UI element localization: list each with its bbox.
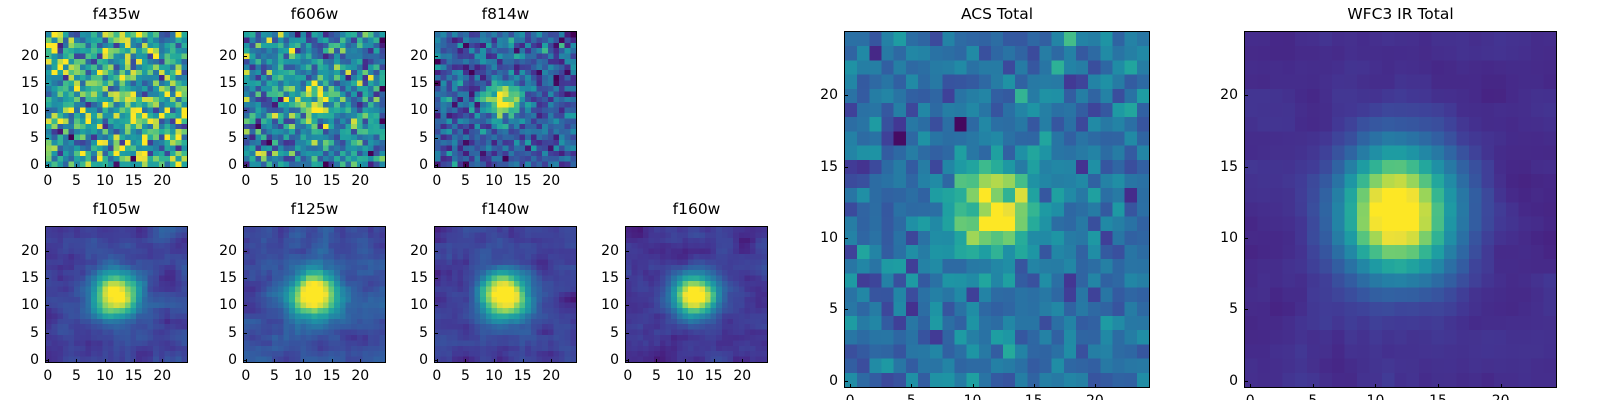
ytick-mark-f105w-0 [45,360,49,361]
panel-title-f125w: f125w [243,202,386,218]
ytick-mark-f160w-5 [625,333,629,334]
ytick-label-f140w-10: 10 [390,298,428,312]
ytick-mark-f606w-20 [243,56,247,57]
xtick-label-f105w-5: 5 [72,369,81,383]
xtick-mark-f125w-10 [303,359,304,363]
ytick-mark-f606w-0 [243,165,247,166]
xtick-label-acs-total-10: 10 [964,394,982,400]
xtick-label-f125w-10: 10 [294,369,312,383]
ytick-label-f435w-0: 0 [1,158,39,172]
xtick-label-f160w-20: 20 [733,369,751,383]
panel-title-f435w: f435w [45,7,188,23]
xtick-label-wfc3-ir-total-20: 20 [1492,394,1510,400]
xtick-label-f435w-10: 10 [96,174,114,188]
axes-f160w [625,226,768,363]
xtick-label-f160w-15: 15 [705,369,723,383]
xtick-mark-f160w-15 [714,359,715,363]
ytick-mark-f814w-0 [434,165,438,166]
ytick-label-wfc3-ir-total-0: 0 [1200,374,1238,388]
xtick-mark-f814w-10 [494,164,495,168]
panel-f435w: f435w0510152005101520 [1,5,188,192]
xtick-mark-f105w-15 [134,359,135,363]
heatmap-image-f435w [46,32,187,167]
xtick-label-f105w-20: 20 [153,369,171,383]
panel-title-f814w: f814w [434,7,577,23]
xtick-label-f105w-15: 15 [125,369,143,383]
ytick-label-f606w-10: 10 [199,103,237,117]
xtick-label-f814w-20: 20 [542,174,560,188]
ytick-label-f160w-0: 0 [581,353,619,367]
xtick-mark-acs-total-20 [1095,384,1096,388]
ytick-label-f435w-5: 5 [1,131,39,145]
ytick-mark-f125w-15 [243,278,247,279]
ytick-mark-f814w-20 [434,56,438,57]
xtick-mark-f160w-20 [742,359,743,363]
ytick-mark-f435w-0 [45,165,49,166]
xtick-mark-f606w-5 [274,164,275,168]
ytick-label-f105w-10: 10 [1,298,39,312]
xtick-label-acs-total-15: 15 [1025,394,1043,400]
ytick-label-f140w-15: 15 [390,271,428,285]
ytick-label-wfc3-ir-total-10: 10 [1200,231,1238,245]
xtick-label-f814w-10: 10 [485,174,503,188]
xtick-label-f606w-15: 15 [323,174,341,188]
axes-f435w [45,31,188,168]
panel-title-f140w: f140w [434,202,577,218]
xtick-mark-f140w-10 [494,359,495,363]
ytick-mark-f814w-15 [434,83,438,84]
ytick-label-f125w-15: 15 [199,271,237,285]
axes-acs-total [844,31,1150,388]
ytick-label-f435w-15: 15 [1,76,39,90]
ytick-label-f140w-5: 5 [390,326,428,340]
ytick-label-f105w-0: 0 [1,353,39,367]
panel-title-f160w: f160w [625,202,768,218]
ytick-mark-acs-total-20 [844,95,848,96]
xtick-label-acs-total-5: 5 [907,394,916,400]
ytick-mark-f105w-20 [45,251,49,252]
ytick-label-f814w-15: 15 [390,76,428,90]
heatmap-image-f160w [626,227,767,362]
xtick-mark-f105w-20 [162,359,163,363]
xtick-mark-f606w-20 [360,164,361,168]
heatmap-image-wfc3-ir-total [1245,32,1556,387]
xtick-label-f125w-20: 20 [351,369,369,383]
panel-wfc3-ir-total: WFC3 IR Total0510152005101520 [1200,5,1557,400]
xtick-label-f814w-5: 5 [461,174,470,188]
xtick-label-f125w-0: 0 [241,369,250,383]
xtick-mark-f435w-5 [76,164,77,168]
ytick-mark-f435w-10 [45,110,49,111]
panel-f140w: f140w0510152005101520 [390,200,577,387]
ytick-mark-f105w-5 [45,333,49,334]
ytick-label-f814w-20: 20 [390,49,428,63]
xtick-label-acs-total-0: 0 [846,394,855,400]
ytick-label-wfc3-ir-total-15: 15 [1200,160,1238,174]
ytick-mark-wfc3-ir-total-0 [1244,381,1248,382]
ytick-label-f140w-0: 0 [390,353,428,367]
ytick-mark-f160w-20 [625,251,629,252]
xtick-label-f140w-15: 15 [514,369,532,383]
panel-f125w: f125w0510152005101520 [199,200,386,387]
xtick-label-wfc3-ir-total-0: 0 [1246,394,1255,400]
xtick-label-wfc3-ir-total-10: 10 [1367,394,1385,400]
ytick-label-acs-total-10: 10 [800,231,838,245]
xtick-label-f125w-5: 5 [270,369,279,383]
xtick-mark-wfc3-ir-total-0 [1250,384,1251,388]
ytick-mark-f140w-15 [434,278,438,279]
heatmap-image-f105w [46,227,187,362]
ytick-mark-f105w-15 [45,278,49,279]
panel-title-wfc3-ir-total: WFC3 IR Total [1244,7,1557,23]
xtick-label-f606w-20: 20 [351,174,369,188]
xtick-mark-wfc3-ir-total-10 [1375,384,1376,388]
xtick-mark-acs-total-0 [850,384,851,388]
panel-f160w: f160w0510152005101520 [581,200,768,387]
xtick-mark-f814w-15 [523,164,524,168]
heatmap-image-f125w [244,227,385,362]
xtick-mark-f435w-20 [162,164,163,168]
xtick-mark-f160w-10 [685,359,686,363]
axes-f105w [45,226,188,363]
ytick-mark-acs-total-15 [844,167,848,168]
xtick-label-f105w-10: 10 [96,369,114,383]
ytick-label-f606w-20: 20 [199,49,237,63]
ytick-label-f125w-20: 20 [199,244,237,258]
xtick-mark-f435w-10 [105,164,106,168]
xtick-label-wfc3-ir-total-5: 5 [1308,394,1317,400]
ytick-mark-f606w-5 [243,138,247,139]
ytick-label-wfc3-ir-total-5: 5 [1200,302,1238,316]
xtick-label-f435w-5: 5 [72,174,81,188]
ytick-label-acs-total-20: 20 [800,88,838,102]
ytick-label-f140w-20: 20 [390,244,428,258]
xtick-label-f105w-0: 0 [43,369,52,383]
ytick-label-f160w-5: 5 [581,326,619,340]
figure-canvas: f435w0510152005101520f606w05101520051015… [0,0,1600,400]
xtick-mark-f140w-15 [523,359,524,363]
ytick-label-acs-total-15: 15 [800,160,838,174]
xtick-mark-f125w-15 [332,359,333,363]
ytick-mark-f814w-10 [434,110,438,111]
ytick-label-f125w-5: 5 [199,326,237,340]
ytick-label-f160w-15: 15 [581,271,619,285]
ytick-mark-f140w-20 [434,251,438,252]
xtick-mark-wfc3-ir-total-5 [1313,384,1314,388]
ytick-label-f606w-15: 15 [199,76,237,90]
ytick-label-f105w-5: 5 [1,326,39,340]
ytick-mark-wfc3-ir-total-10 [1244,238,1248,239]
ytick-mark-f160w-10 [625,305,629,306]
axes-f125w [243,226,386,363]
xtick-label-f160w-10: 10 [676,369,694,383]
xtick-mark-f606w-10 [303,164,304,168]
panel-f606w: f606w0510152005101520 [199,5,386,192]
axes-wfc3-ir-total [1244,31,1557,388]
ytick-mark-wfc3-ir-total-5 [1244,309,1248,310]
xtick-label-f435w-15: 15 [125,174,143,188]
xtick-label-f160w-5: 5 [652,369,661,383]
ytick-label-acs-total-5: 5 [800,302,838,316]
xtick-mark-f814w-20 [551,164,552,168]
heatmap-image-acs-total [845,32,1149,387]
panel-f105w: f105w0510152005101520 [1,200,188,387]
xtick-label-f814w-15: 15 [514,174,532,188]
ytick-mark-f160w-0 [625,360,629,361]
ytick-mark-f125w-20 [243,251,247,252]
xtick-label-f606w-0: 0 [241,174,250,188]
xtick-mark-acs-total-15 [1034,384,1035,388]
xtick-mark-f125w-20 [360,359,361,363]
panel-title-f606w: f606w [243,7,386,23]
ytick-mark-f140w-0 [434,360,438,361]
ytick-label-f125w-0: 0 [199,353,237,367]
ytick-mark-acs-total-0 [844,381,848,382]
xtick-label-f140w-0: 0 [432,369,441,383]
ytick-mark-wfc3-ir-total-15 [1244,167,1248,168]
xtick-mark-acs-total-5 [911,384,912,388]
ytick-mark-acs-total-5 [844,309,848,310]
xtick-label-f814w-0: 0 [432,174,441,188]
ytick-mark-f125w-10 [243,305,247,306]
ytick-label-f105w-15: 15 [1,271,39,285]
ytick-mark-f435w-20 [45,56,49,57]
ytick-mark-f140w-5 [434,333,438,334]
xtick-label-f160w-0: 0 [623,369,632,383]
xtick-label-wfc3-ir-total-15: 15 [1429,394,1447,400]
axes-f606w [243,31,386,168]
xtick-mark-wfc3-ir-total-15 [1438,384,1439,388]
ytick-label-f160w-20: 20 [581,244,619,258]
ytick-mark-f814w-5 [434,138,438,139]
xtick-label-f140w-20: 20 [542,369,560,383]
xtick-label-f140w-10: 10 [485,369,503,383]
xtick-mark-f140w-20 [551,359,552,363]
xtick-label-f435w-20: 20 [153,174,171,188]
panel-f814w: f814w0510152005101520 [390,5,577,192]
ytick-mark-f140w-10 [434,305,438,306]
ytick-label-f814w-0: 0 [390,158,428,172]
panel-title-acs-total: ACS Total [844,7,1150,23]
xtick-mark-f105w-10 [105,359,106,363]
heatmap-image-f606w [244,32,385,167]
ytick-mark-f435w-15 [45,83,49,84]
ytick-mark-f125w-0 [243,360,247,361]
ytick-mark-acs-total-10 [844,238,848,239]
xtick-mark-f435w-15 [134,164,135,168]
panel-acs-total: ACS Total0510152005101520 [800,5,1150,400]
ytick-mark-wfc3-ir-total-20 [1244,95,1248,96]
ytick-mark-f606w-15 [243,83,247,84]
xtick-mark-acs-total-10 [973,384,974,388]
ytick-mark-f435w-5 [45,138,49,139]
ytick-mark-f606w-10 [243,110,247,111]
xtick-label-acs-total-20: 20 [1086,394,1104,400]
xtick-label-f125w-15: 15 [323,369,341,383]
ytick-mark-f160w-15 [625,278,629,279]
xtick-mark-f160w-5 [656,359,657,363]
ytick-label-f125w-10: 10 [199,298,237,312]
xtick-mark-f125w-5 [274,359,275,363]
ytick-label-f814w-5: 5 [390,131,428,145]
ytick-label-f606w-0: 0 [199,158,237,172]
heatmap-image-f814w [435,32,576,167]
ytick-label-wfc3-ir-total-20: 20 [1200,88,1238,102]
xtick-label-f606w-10: 10 [294,174,312,188]
axes-f140w [434,226,577,363]
ytick-label-f435w-20: 20 [1,49,39,63]
ytick-mark-f105w-10 [45,305,49,306]
ytick-mark-f125w-5 [243,333,247,334]
ytick-label-acs-total-0: 0 [800,374,838,388]
xtick-mark-f105w-5 [76,359,77,363]
ytick-label-f814w-10: 10 [390,103,428,117]
xtick-mark-f140w-5 [465,359,466,363]
ytick-label-f160w-10: 10 [581,298,619,312]
axes-f814w [434,31,577,168]
xtick-label-f435w-0: 0 [43,174,52,188]
heatmap-image-f140w [435,227,576,362]
ytick-label-f606w-5: 5 [199,131,237,145]
panel-title-f105w: f105w [45,202,188,218]
xtick-mark-wfc3-ir-total-20 [1501,384,1502,388]
ytick-label-f105w-20: 20 [1,244,39,258]
ytick-label-f435w-10: 10 [1,103,39,117]
xtick-label-f140w-5: 5 [461,369,470,383]
xtick-mark-f814w-5 [465,164,466,168]
xtick-mark-f606w-15 [332,164,333,168]
xtick-label-f606w-5: 5 [270,174,279,188]
